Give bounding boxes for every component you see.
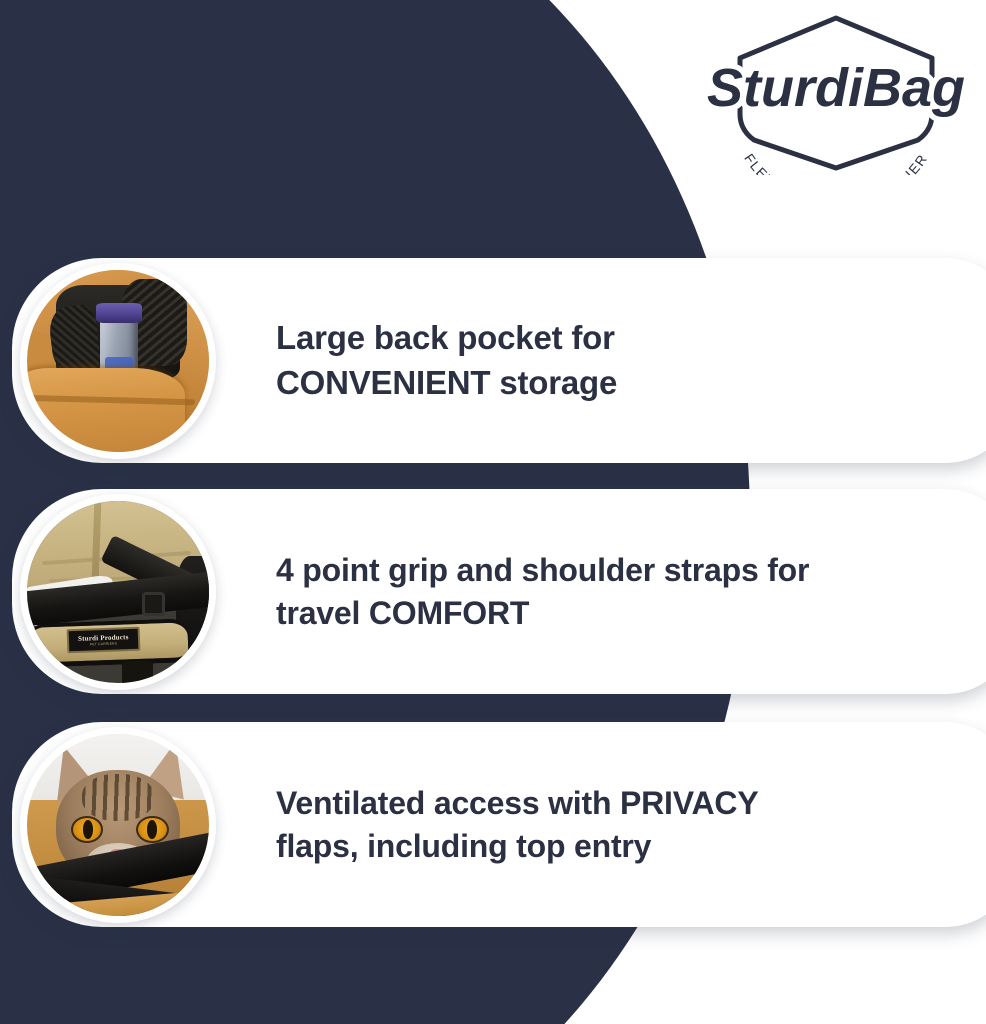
infographic-canvas: SturdiBag SturdiBag FLEX-HEIGHT PET CARR… <box>0 0 986 1024</box>
logo-wordmark: SturdiBag <box>707 58 965 118</box>
shoulder-strap-photo: Sturdi Products PET CARRIERS <box>27 501 209 683</box>
cat-forehead-stripes <box>82 774 155 821</box>
cat-pupil-left <box>83 820 93 838</box>
feature-2-line-2: travel COMFORT <box>276 592 972 635</box>
strap-buckle <box>142 592 166 616</box>
feature-1-line-1: Large back pocket for <box>276 316 972 360</box>
back-pocket-photo <box>27 270 209 452</box>
feature-2-line-1: 4 point grip and shoulder straps for <box>276 549 972 592</box>
feature-2-text: 4 point grip and shoulder straps for tra… <box>276 549 972 635</box>
sturdibag-logo: SturdiBag SturdiBag FLEX-HEIGHT PET CARR… <box>700 10 972 175</box>
cat-top-entry-photo <box>27 734 209 916</box>
feature-1-text: Large back pocket for CONVENIENT storage <box>276 316 972 404</box>
strap-tail <box>122 661 153 683</box>
sturdi-products-label: Sturdi Products PET CARRIERS <box>67 627 141 653</box>
label-subtext: PET CARRIERS <box>90 642 118 647</box>
feature-3-line-1: Ventilated access with PRIVACY <box>276 782 972 825</box>
feature-3-text: Ventilated access with PRIVACY flaps, in… <box>276 782 972 868</box>
feature-1-thumbnail <box>20 263 216 459</box>
pocket-dark-gear-left <box>47 304 102 377</box>
feature-1-line-2: CONVENIENT storage <box>276 361 972 405</box>
pocket-front-panel <box>27 368 185 452</box>
feature-3-line-2: flaps, including top entry <box>276 825 972 868</box>
feature-2-thumbnail: Sturdi Products PET CARRIERS <box>20 494 216 690</box>
water-bottle-cap <box>96 303 142 323</box>
cat-pupil-right <box>147 820 157 838</box>
feature-3-thumbnail <box>20 727 216 923</box>
logo-tagline: FLEX-HEIGHT PET CARRIER <box>741 151 930 175</box>
